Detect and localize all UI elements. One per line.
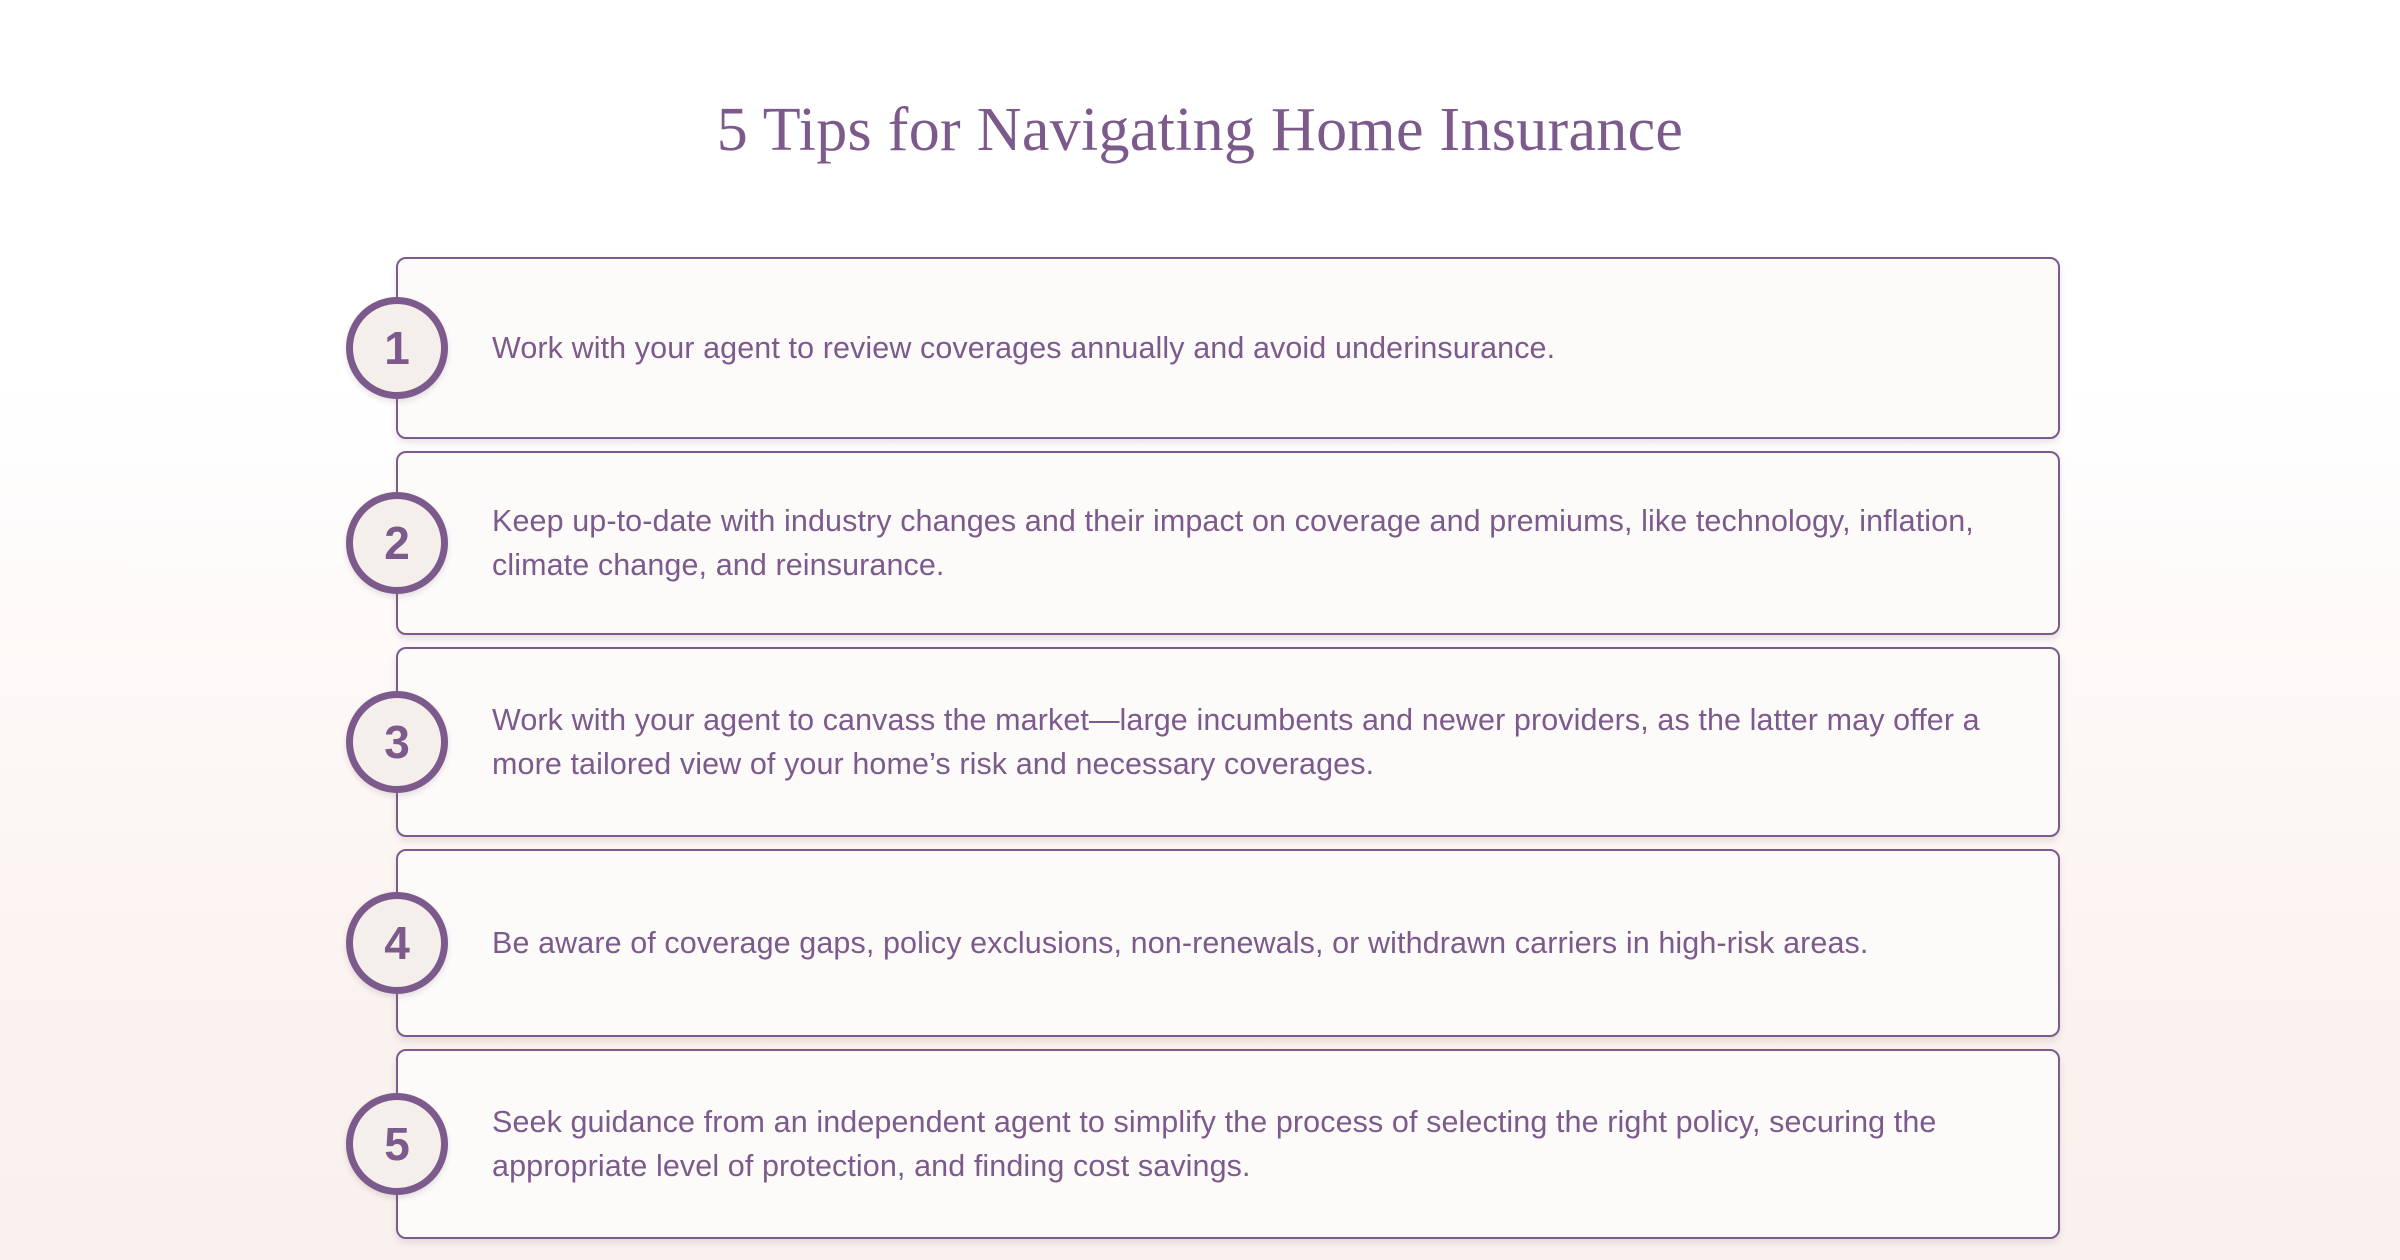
tip-number-badge: 4 <box>346 892 448 994</box>
tip-text: Work with your agent to canvass the mark… <box>492 698 1988 786</box>
list-item: 1 Work with your agent to review coverag… <box>396 257 2060 439</box>
infographic-page: 5 Tips for Navigating Home Insurance 1 W… <box>0 0 2400 1260</box>
page-title: 5 Tips for Navigating Home Insurance <box>0 95 2400 166</box>
list-item: 4 Be aware of coverage gaps, policy excl… <box>396 849 2060 1037</box>
tips-list: 1 Work with your agent to review coverag… <box>396 257 2060 1239</box>
tip-number-badge: 5 <box>346 1093 448 1195</box>
list-item: 2 Keep up-to-date with industry changes … <box>396 451 2060 635</box>
tip-text: Seek guidance from an independent agent … <box>492 1100 1988 1188</box>
tip-number-badge: 1 <box>346 297 448 399</box>
tip-number-badge: 3 <box>346 691 448 793</box>
tip-text: Keep up-to-date with industry changes an… <box>492 499 1988 587</box>
tip-number-badge: 2 <box>346 492 448 594</box>
tip-text: Work with your agent to review coverages… <box>492 326 1555 370</box>
tip-text: Be aware of coverage gaps, policy exclus… <box>492 921 1868 965</box>
list-item: 3 Work with your agent to canvass the ma… <box>396 647 2060 837</box>
list-item: 5 Seek guidance from an independent agen… <box>396 1049 2060 1239</box>
